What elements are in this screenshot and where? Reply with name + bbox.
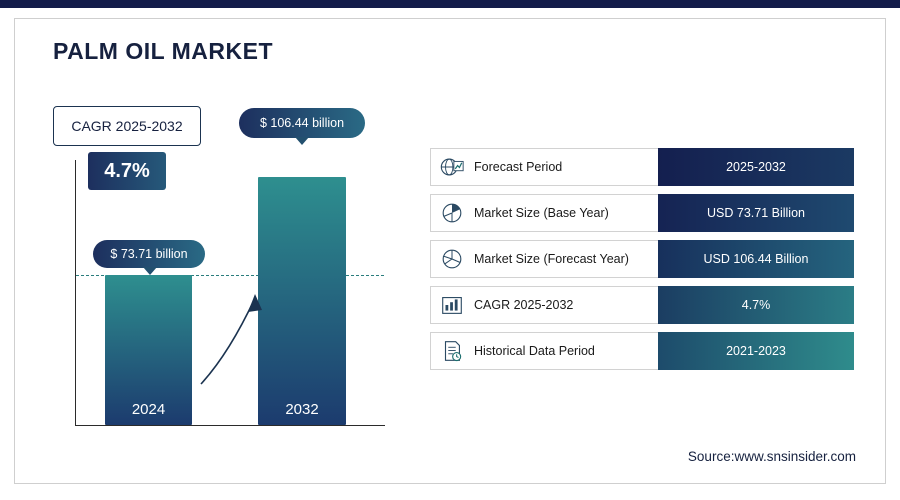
table-row-label: CAGR 2025-2032	[474, 298, 573, 312]
table-row-value: USD 106.44 Billion	[704, 252, 809, 266]
table-row: Market Size (Base Year) USD 73.71 Billio…	[430, 194, 854, 232]
pill-tail-2024	[143, 267, 157, 275]
pie-chart-icon	[439, 200, 465, 226]
bar-value-pill-2024: $ 73.71 billion	[93, 240, 205, 268]
pie-chart-segments-icon	[439, 246, 465, 272]
page-title: PALM OIL MARKET	[53, 38, 273, 65]
chart-x-axis	[75, 425, 385, 426]
bar-value-text-2032: $ 106.44 billion	[260, 116, 344, 130]
table-row-value: 2021-2023	[726, 344, 786, 358]
summary-table: Forecast Period 2025-2032 Market Size (B…	[430, 148, 854, 378]
table-row-label: Market Size (Base Year)	[474, 206, 609, 220]
top-navy-bar	[0, 0, 900, 8]
table-row-value: 4.7%	[742, 298, 771, 312]
document-clock-icon	[439, 338, 465, 364]
table-row-value-cell: 2025-2032	[658, 148, 854, 186]
bar-value-pill-2032: $ 106.44 billion	[239, 108, 365, 138]
bar-chart-icon	[439, 292, 465, 318]
chart-y-axis	[75, 160, 76, 426]
table-row-value: USD 73.71 Billion	[707, 206, 805, 220]
table-row-value-cell: USD 106.44 Billion	[658, 240, 854, 278]
table-row-label: Historical Data Period	[474, 344, 595, 358]
table-row-value: 2025-2032	[726, 160, 786, 174]
table-row: Market Size (Forecast Year) USD 106.44 B…	[430, 240, 854, 278]
table-row-label-cell: Market Size (Base Year)	[430, 194, 658, 232]
table-row-label: Market Size (Forecast Year)	[474, 252, 629, 266]
table-row: Forecast Period 2025-2032	[430, 148, 854, 186]
table-row-label-cell: Market Size (Forecast Year)	[430, 240, 658, 278]
poster-root: PALM OIL MARKET CAGR 2025-2032 4.7% 2024…	[0, 0, 900, 500]
table-row-value-cell: 2021-2023	[658, 332, 854, 370]
growth-arrow-icon	[193, 280, 273, 390]
table-row-value-cell: USD 73.71 Billion	[658, 194, 854, 232]
globe-chart-icon	[439, 154, 465, 180]
table-row-label-cell: CAGR 2025-2032	[430, 286, 658, 324]
table-row-label: Forecast Period	[474, 160, 562, 174]
bar-chart: 2024 2032 $ 73.71 billion $ 106.44 billi…	[53, 100, 393, 430]
table-row: CAGR 2025-2032 4.7%	[430, 286, 854, 324]
table-row-label-cell: Historical Data Period	[430, 332, 658, 370]
table-row: Historical Data Period 2021-2023	[430, 332, 854, 370]
bar-category-label-2024: 2024	[105, 401, 192, 418]
source-attribution: Source:www.snsinsider.com	[688, 449, 856, 464]
bar-value-text-2024: $ 73.71 billion	[110, 247, 187, 261]
pill-tail-2032	[295, 137, 309, 145]
table-row-label-cell: Forecast Period	[430, 148, 658, 186]
bar-category-label-2032: 2032	[258, 401, 346, 418]
table-row-value-cell: 4.7%	[658, 286, 854, 324]
